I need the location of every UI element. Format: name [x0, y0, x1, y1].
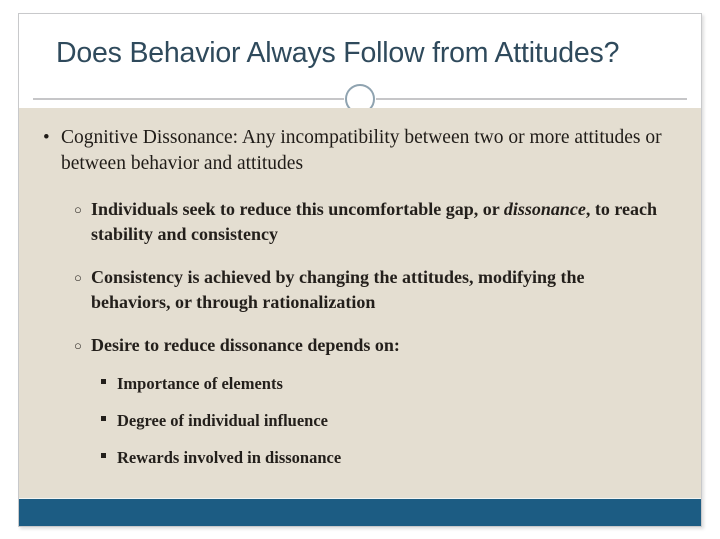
spacer	[19, 315, 701, 333]
circle-bullet-icon: ○	[74, 333, 82, 358]
spacer	[19, 395, 701, 409]
presentation-slide: Does Behavior Always Follow from Attitud…	[18, 13, 702, 527]
slide-stage: Does Behavior Always Follow from Attitud…	[0, 0, 720, 539]
bullet-level2-item: ○ Individuals seek to reduce this uncomf…	[19, 197, 701, 247]
bullet-level3-text: Degree of individual influence	[117, 411, 328, 430]
footer-accent-bar	[19, 498, 701, 526]
slide-title: Does Behavior Always Follow from Attitud…	[56, 36, 676, 70]
circle-bullet-icon: ○	[74, 265, 82, 290]
bullet-level3-item: Degree of individual influence	[19, 409, 701, 432]
square-bullet-icon	[101, 379, 106, 384]
bullet-level2-emphasis: dissonance	[504, 199, 586, 219]
spacer	[19, 177, 701, 197]
square-bullet-icon	[101, 453, 106, 458]
bullet-list: • Cognitive Dissonance: Any incompatibil…	[19, 108, 701, 469]
spacer	[19, 432, 701, 446]
bullet-level2-text: Consistency is achieved by changing the …	[91, 267, 585, 312]
bullet-level3-text: Importance of elements	[117, 374, 283, 393]
bullet-level3-item: Rewards involved in dissonance	[19, 446, 701, 469]
bullet-level1-item: • Cognitive Dissonance: Any incompatibil…	[19, 125, 701, 177]
square-bullet-icon	[101, 416, 106, 421]
spacer	[19, 247, 701, 265]
bullet-level2-item: ○ Consistency is achieved by changing th…	[19, 265, 701, 315]
bullet-level3-item: Importance of elements	[19, 372, 701, 395]
slide-body: • Cognitive Dissonance: Any incompatibil…	[19, 108, 701, 501]
bullet-level2-text: Desire to reduce dissonance depends on:	[91, 335, 400, 355]
circle-bullet-icon: ○	[74, 197, 82, 222]
disc-bullet-icon: •	[43, 125, 50, 151]
bullet-level2-item: ○ Desire to reduce dissonance depends on…	[19, 333, 701, 358]
spacer	[19, 108, 701, 125]
bullet-level2-text-lead: Individuals seek to reduce this uncomfor…	[91, 199, 504, 219]
bullet-level1-text: Cognitive Dissonance: Any incompatibilit…	[61, 127, 662, 174]
bullet-level3-text: Rewards involved in dissonance	[117, 448, 341, 467]
spacer	[19, 358, 701, 372]
